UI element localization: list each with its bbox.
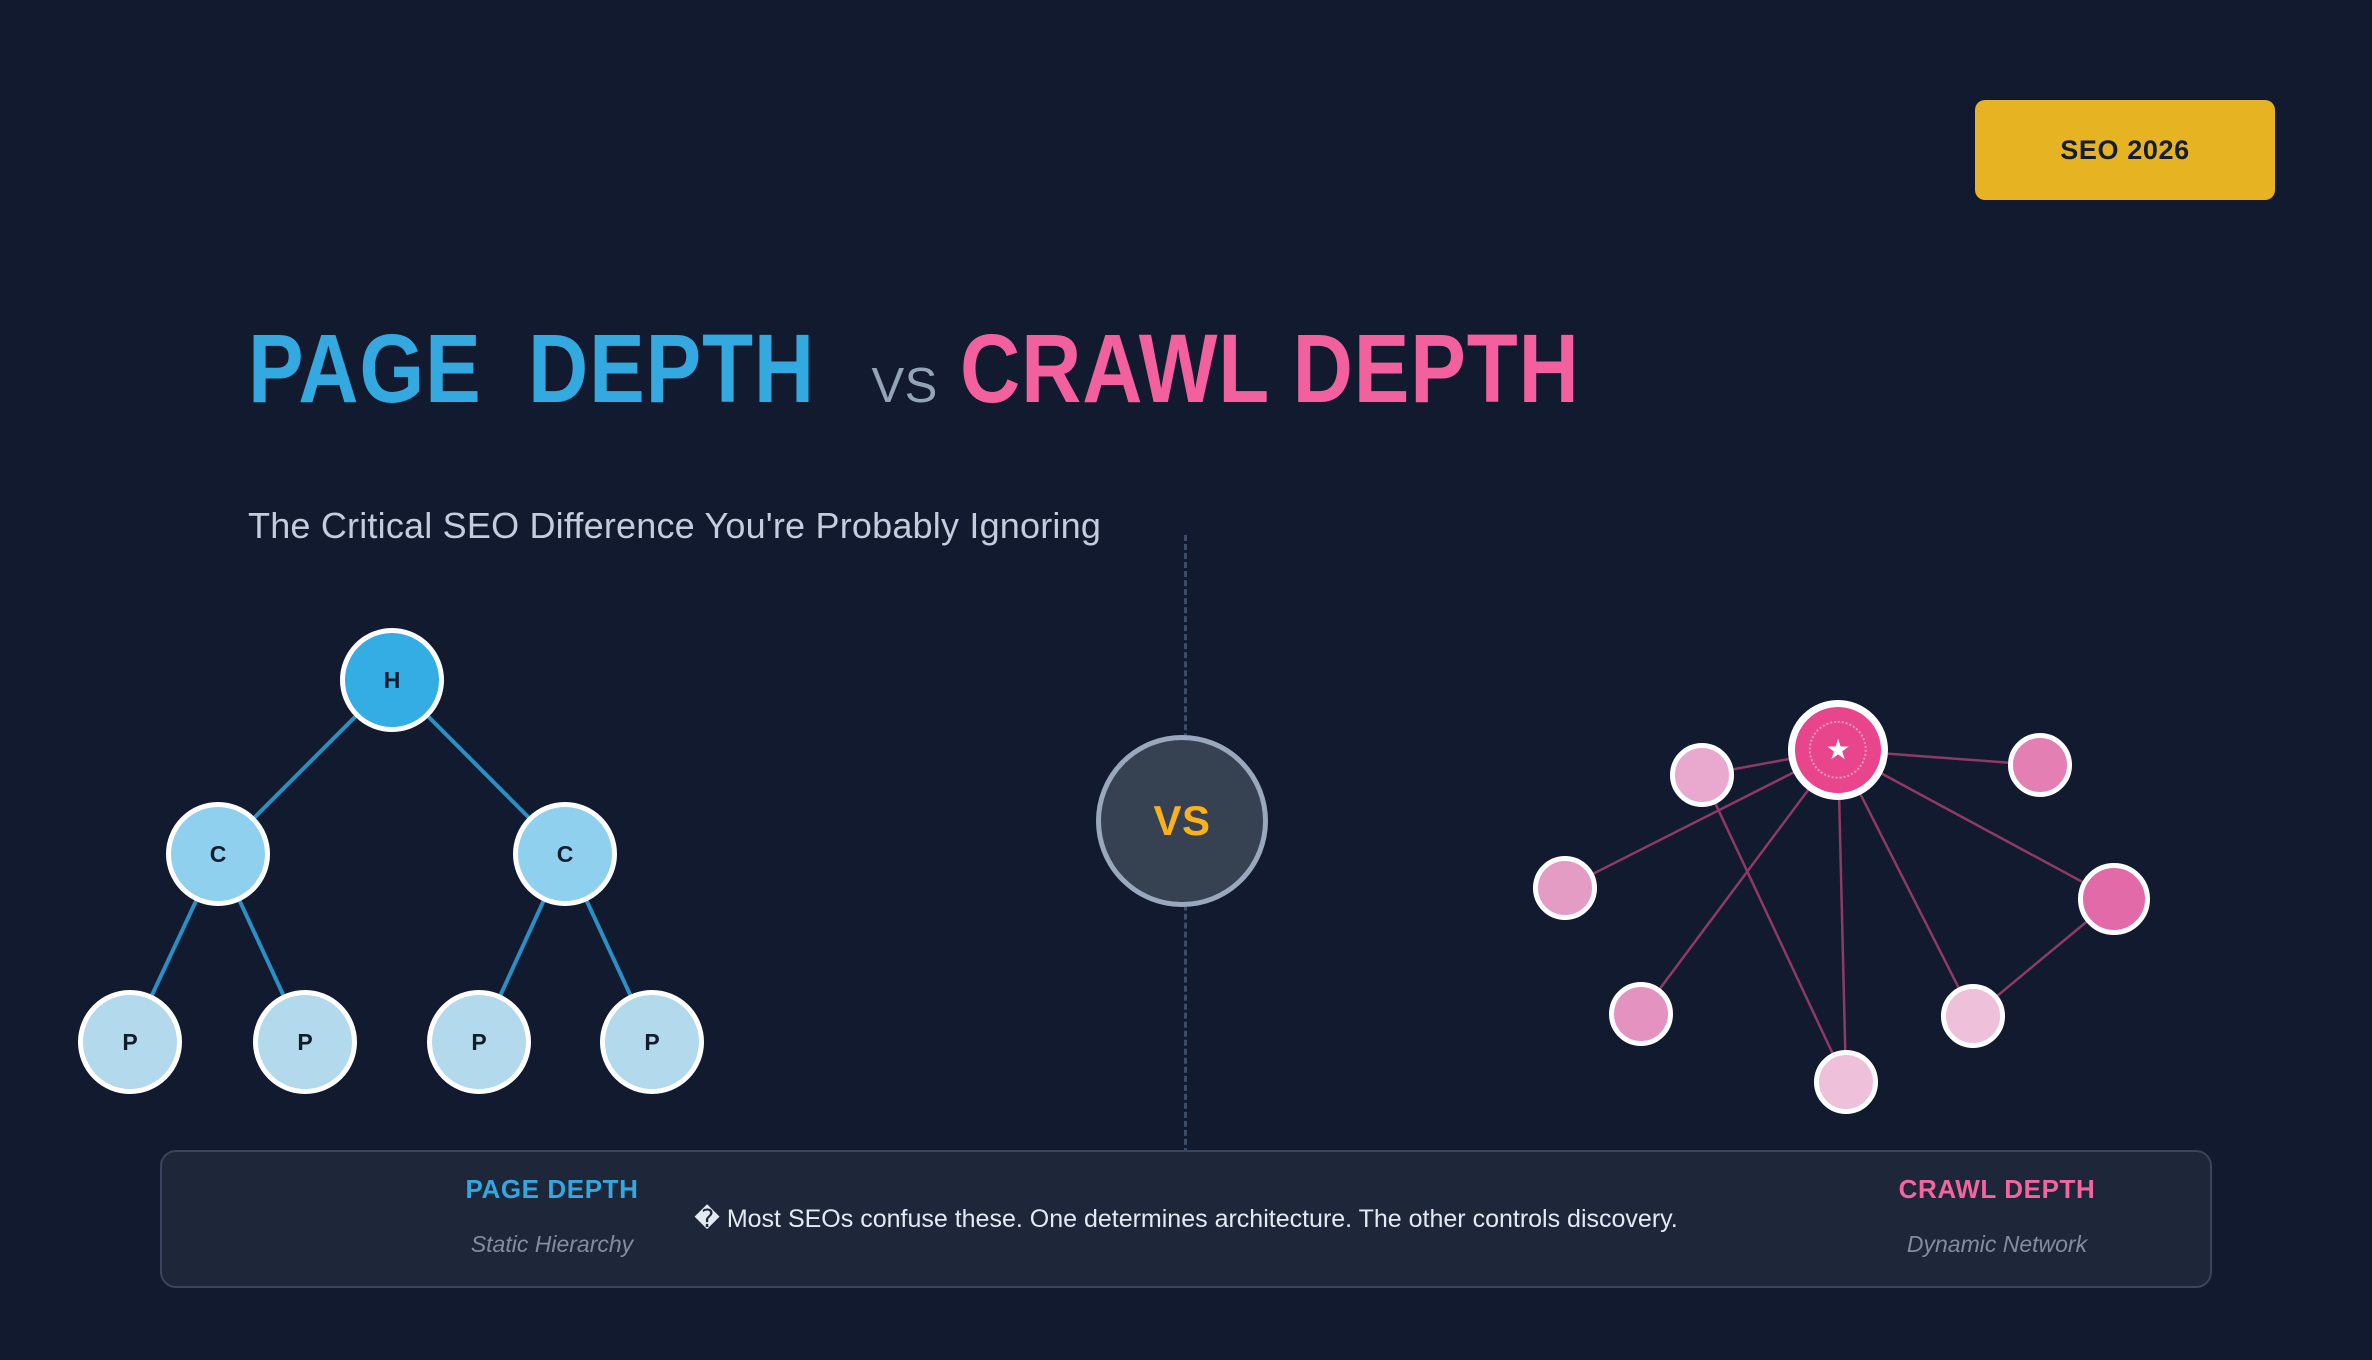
tree-node-c1: C [166, 802, 270, 906]
diagram-node-label: P [297, 1029, 312, 1056]
panel-title-page-depth: PAGE DEPTH [362, 1174, 742, 1205]
diagram-node-label: C [210, 841, 227, 868]
network-node-n3 [1533, 856, 1597, 920]
diagram-edge [1702, 775, 1846, 1082]
diagram-node-label: P [644, 1029, 659, 1056]
network-node-n2 [2008, 733, 2072, 797]
panel-subtitle-crawl-depth: Dynamic Network [1807, 1231, 2187, 1258]
tree-node-p4: P [600, 990, 704, 1094]
page-subtitle: The Critical SEO Difference You're Proba… [248, 505, 1101, 547]
title-word-crawl-depth: CRAWL DEPTH [960, 320, 1580, 417]
panel-column-crawl-depth: CRAWL DEPTH Dynamic Network [1807, 1174, 2187, 1258]
network-hub-node: ★ [1788, 700, 1888, 800]
seo-year-badge: SEO 2026 [1975, 100, 2275, 200]
panel-title-crawl-depth: CRAWL DEPTH [1807, 1174, 2187, 1205]
title-word-page: PAGE [248, 320, 482, 417]
diagram-node-label: H [384, 667, 401, 694]
network-node-n7 [1814, 1050, 1878, 1114]
network-node-n5 [1609, 982, 1673, 1046]
tree-node-p3: P [427, 990, 531, 1094]
seo-year-badge-label: SEO 2026 [2060, 135, 2189, 166]
diagram-node-label: P [471, 1029, 486, 1056]
panel-subtitle-page-depth: Static Hierarchy [362, 1231, 742, 1258]
network-node-n4 [2078, 863, 2150, 935]
star-icon: ★ [1825, 736, 1850, 764]
comparison-summary-panel: PAGE DEPTH Static Hierarchy � Most SEOs … [160, 1150, 2212, 1288]
vs-badge-label: VS [1153, 797, 1210, 845]
tree-node-p2: P [253, 990, 357, 1094]
tree-node-c2: C [513, 802, 617, 906]
diagram-node-label: C [557, 841, 574, 868]
network-node-n6 [1941, 984, 2005, 1048]
network-node-n1 [1670, 743, 1734, 807]
page-title: PAGE DEPTH VS CRAWL DEPTH [248, 320, 1680, 417]
title-vs-separator: VS [871, 358, 937, 414]
vs-badge: VS [1096, 735, 1268, 907]
title-word-depth: DEPTH [528, 320, 815, 417]
tree-node-p1: P [78, 990, 182, 1094]
tree-node-h: H [340, 628, 444, 732]
diagram-node-label: P [122, 1029, 137, 1056]
